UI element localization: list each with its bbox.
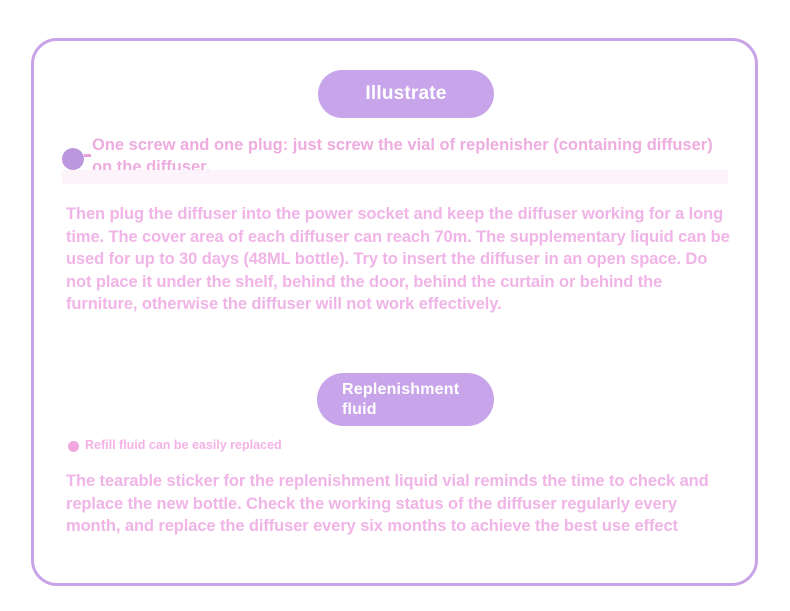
replenishment-fluid-badge: Replenishment fluid <box>317 373 494 426</box>
replenishment-paragraph: The tearable sticker for the replenishme… <box>66 470 730 538</box>
panel-content: Illustrate One screw and one plug: just … <box>0 0 790 611</box>
dash-mark-icon <box>84 154 91 157</box>
replenishment-badge-label-line2: fluid <box>342 400 494 420</box>
ghost-text-band <box>62 170 728 184</box>
replenishment-bullet-text: Refill fluid can be easily replaced <box>85 437 282 454</box>
illustrate-badge-label: Illustrate <box>365 83 446 104</box>
illustrate-paragraph: Then plug the diffuser into the power so… <box>66 203 730 316</box>
circle-bullet-small-icon <box>68 441 79 452</box>
replenishment-badge-label-line1: Replenishment <box>342 381 459 398</box>
product-instruction-panel: Illustrate One screw and one plug: just … <box>0 0 790 611</box>
illustrate-badge: Illustrate <box>318 70 494 118</box>
circle-bullet-large-icon <box>62 148 84 170</box>
